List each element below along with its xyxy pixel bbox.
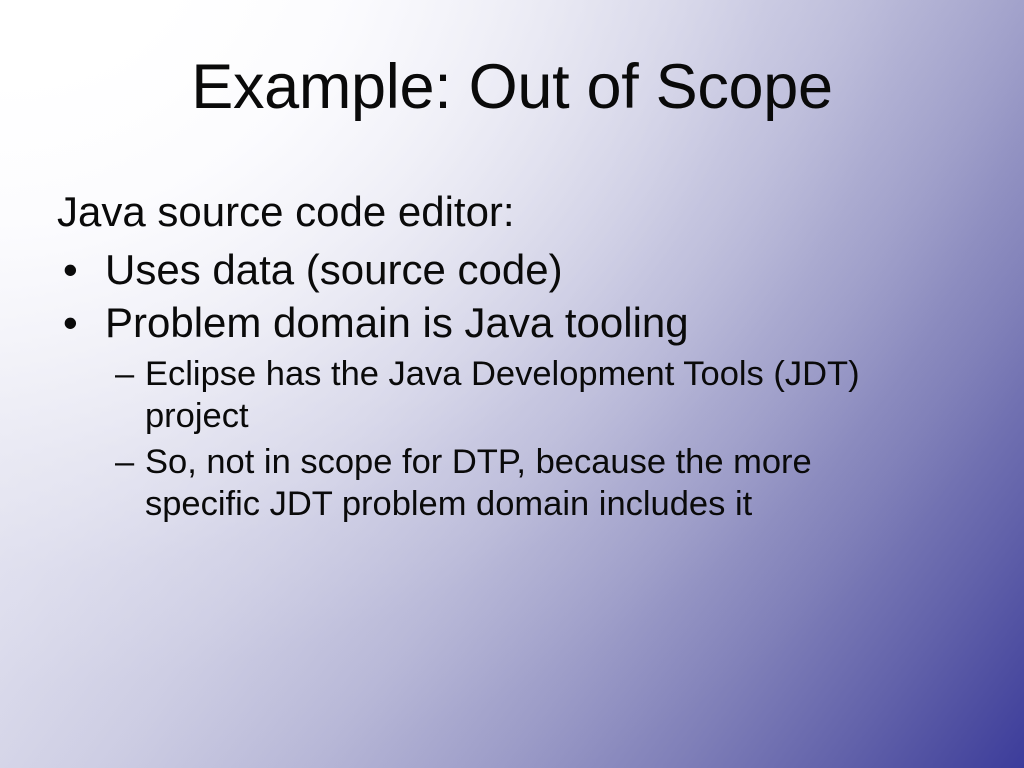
dash-marker-icon: – [115, 353, 134, 395]
slide-title: Example: Out of Scope [0, 54, 1024, 121]
slide-content: Example: Out of Scope Java source code e… [0, 0, 1024, 768]
sub-bullet-text: Eclipse has the Java Development Tools (… [145, 353, 935, 437]
dash-marker-icon: – [115, 441, 134, 483]
bullet-marker-icon: • [63, 246, 78, 293]
slide-body: Java source code editor: • Uses data (so… [57, 188, 957, 529]
sub-bullet-item: – Eclipse has the Java Development Tools… [57, 353, 957, 437]
body-lead-line: Java source code editor: [57, 188, 957, 236]
bullet-item: • Problem domain is Java tooling [57, 299, 957, 346]
sub-bullet-list: – Eclipse has the Java Development Tools… [57, 353, 957, 525]
bullet-text: Problem domain is Java tooling [105, 299, 689, 346]
bullet-item: • Uses data (source code) [57, 246, 957, 293]
bullet-text: Uses data (source code) [105, 246, 563, 293]
presentation-slide: Example: Out of Scope Java source code e… [0, 0, 1024, 768]
bullet-marker-icon: • [63, 299, 78, 346]
sub-bullet-item: – So, not in scope for DTP, because the … [57, 441, 957, 525]
sub-bullet-text: So, not in scope for DTP, because the mo… [145, 441, 935, 525]
bullet-list: • Uses data (source code) • Problem doma… [57, 246, 957, 347]
